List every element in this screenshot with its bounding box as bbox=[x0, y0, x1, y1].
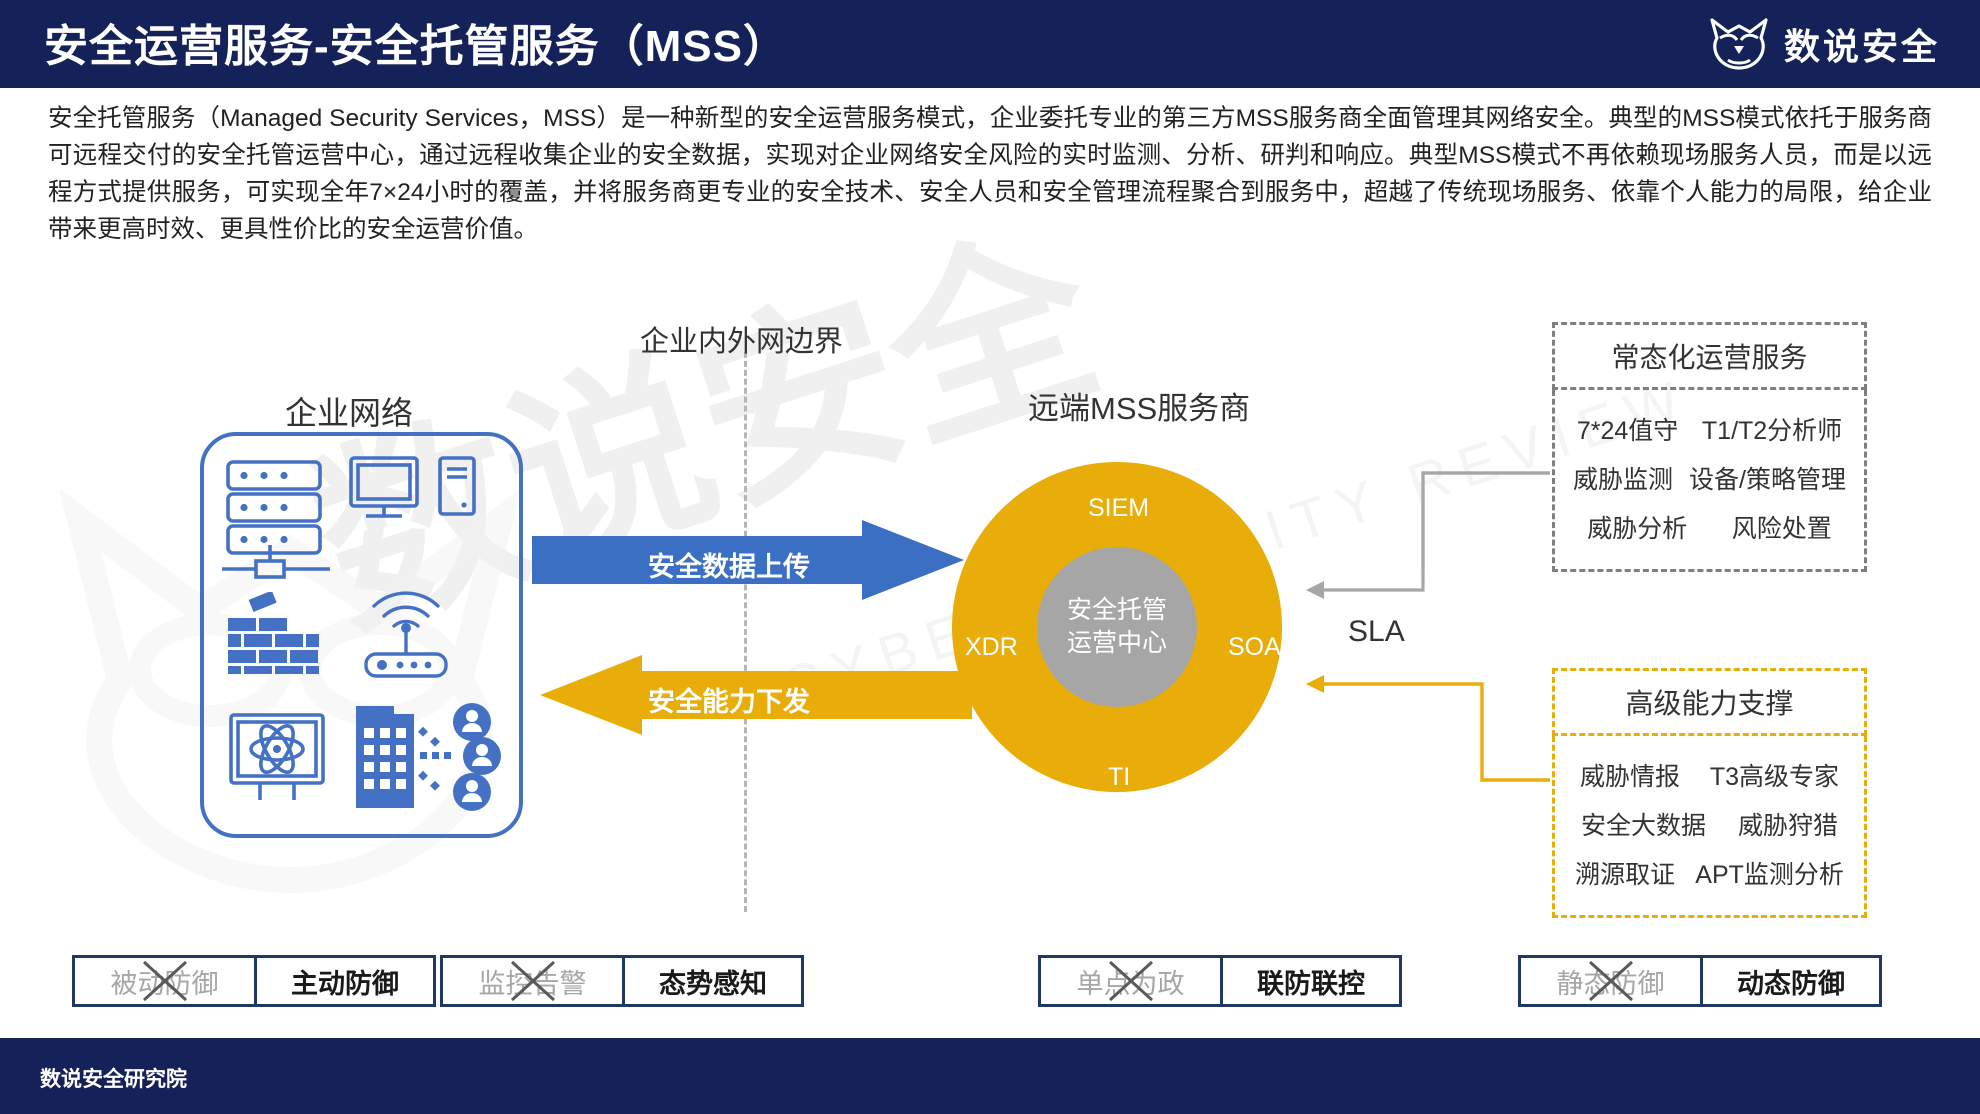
network-bus-icon bbox=[218, 545, 348, 589]
compare-new: 动态防御 bbox=[1700, 958, 1879, 1004]
panel-cell: 威胁情报 bbox=[1580, 757, 1680, 793]
wifi-router-icon bbox=[352, 578, 472, 678]
panel-cell: 7*24值守 bbox=[1577, 411, 1678, 447]
mss-core-circle: 安全托管 运营中心 bbox=[1037, 547, 1197, 707]
panel-cell: 威胁监测 bbox=[1573, 460, 1673, 496]
ring-label-siem: SIEM bbox=[1088, 494, 1149, 523]
panel-row: 威胁监测 设备/策略管理 bbox=[1565, 453, 1854, 502]
panel-body: 威胁情报 T3高级专家 安全大数据 威胁狩猎 溯源取证 APT监测分析 bbox=[1552, 736, 1867, 918]
compare-new: 主动防御 bbox=[254, 958, 433, 1004]
panel-title: 常态化运营服务 bbox=[1552, 322, 1867, 390]
panel-advanced-capability: 高级能力支撑 威胁情报 T3高级专家 安全大数据 威胁狩猎 溯源取证 APT监测… bbox=[1552, 668, 1867, 918]
compare-box-4: 静态防御 动态防御 bbox=[1518, 955, 1882, 1007]
compare-new: 联防联控 bbox=[1220, 958, 1399, 1004]
panel-row: 溯源取证 APT监测分析 bbox=[1565, 848, 1854, 897]
core-line-2: 运营中心 bbox=[1067, 627, 1167, 660]
panel-cell: 威胁分析 bbox=[1587, 509, 1687, 545]
compare-old-text: 单点为政 bbox=[1077, 962, 1185, 1001]
panel-row: 安全大数据 威胁狩猎 bbox=[1565, 799, 1854, 848]
enterprise-label: 企业网络 bbox=[285, 388, 413, 434]
panel-title: 高级能力支撑 bbox=[1552, 668, 1867, 736]
upload-arrow-label: 安全数据上传 bbox=[648, 545, 810, 584]
ring-label-xdr: XDR bbox=[965, 633, 1018, 662]
compare-new: 态势感知 bbox=[622, 958, 801, 1004]
download-arrow-label: 安全能力下发 bbox=[648, 680, 810, 719]
panel-cell: 安全大数据 bbox=[1581, 806, 1706, 842]
compare-old: 被动防御 bbox=[75, 958, 254, 1004]
monitor-icon bbox=[348, 455, 428, 525]
panel-row: 7*24值守 T1/T2分析师 bbox=[1565, 404, 1854, 453]
office-building-icon bbox=[356, 700, 501, 812]
firewall-brick-icon bbox=[228, 592, 338, 674]
provider-label: 远端MSS服务商 bbox=[1028, 383, 1250, 428]
compare-old: 监控告警 bbox=[443, 958, 622, 1004]
sla-label: SLA bbox=[1348, 615, 1405, 649]
panel-cell: 设备/策略管理 bbox=[1689, 460, 1846, 496]
compare-box-1: 被动防御 主动防御 bbox=[72, 955, 436, 1007]
compare-old-text: 静态防御 bbox=[1557, 962, 1665, 1001]
boundary-label: 企业内外网边界 bbox=[640, 318, 843, 360]
ring-label-ti: TI bbox=[1108, 763, 1130, 792]
core-line-1: 安全托管 bbox=[1067, 594, 1167, 627]
panel-cell: 威胁狩猎 bbox=[1738, 806, 1838, 842]
network-boundary-divider bbox=[744, 352, 747, 912]
compare-box-3: 单点为政 联防联控 bbox=[1038, 955, 1402, 1007]
panel-cell: T1/T2分析师 bbox=[1702, 411, 1842, 447]
compare-old-text: 被动防御 bbox=[111, 962, 219, 1001]
compare-box-2: 监控告警 态势感知 bbox=[440, 955, 804, 1007]
panel-row: 威胁情报 T3高级专家 bbox=[1565, 750, 1854, 799]
user-nodes-icon bbox=[418, 703, 501, 811]
panel-cell: 溯源取证 bbox=[1575, 855, 1675, 891]
panel-normal-operations: 常态化运营服务 7*24值守 T1/T2分析师 威胁监测 设备/策略管理 威胁分… bbox=[1552, 322, 1867, 572]
sla-yellow-arrow bbox=[1300, 670, 1560, 790]
panel-cell: APT监测分析 bbox=[1695, 855, 1844, 891]
panel-cell: T3高级专家 bbox=[1710, 757, 1839, 793]
sla-gray-arrow bbox=[1300, 465, 1560, 695]
panel-cell: 风险处置 bbox=[1732, 509, 1832, 545]
diagram-stage: 企业内外网边界 企业网络 bbox=[0, 0, 1980, 1114]
atom-monitor-icon bbox=[228, 712, 338, 812]
compare-old-text: 监控告警 bbox=[479, 962, 587, 1001]
panel-row: 威胁分析 风险处置 bbox=[1565, 502, 1854, 551]
pc-tower-icon bbox=[437, 455, 483, 521]
panel-body: 7*24值守 T1/T2分析师 威胁监测 设备/策略管理 威胁分析 风险处置 bbox=[1552, 390, 1867, 572]
ring-label-soar: SOAR bbox=[1228, 633, 1299, 662]
compare-old: 单点为政 bbox=[1041, 958, 1220, 1004]
compare-old: 静态防御 bbox=[1521, 958, 1700, 1004]
